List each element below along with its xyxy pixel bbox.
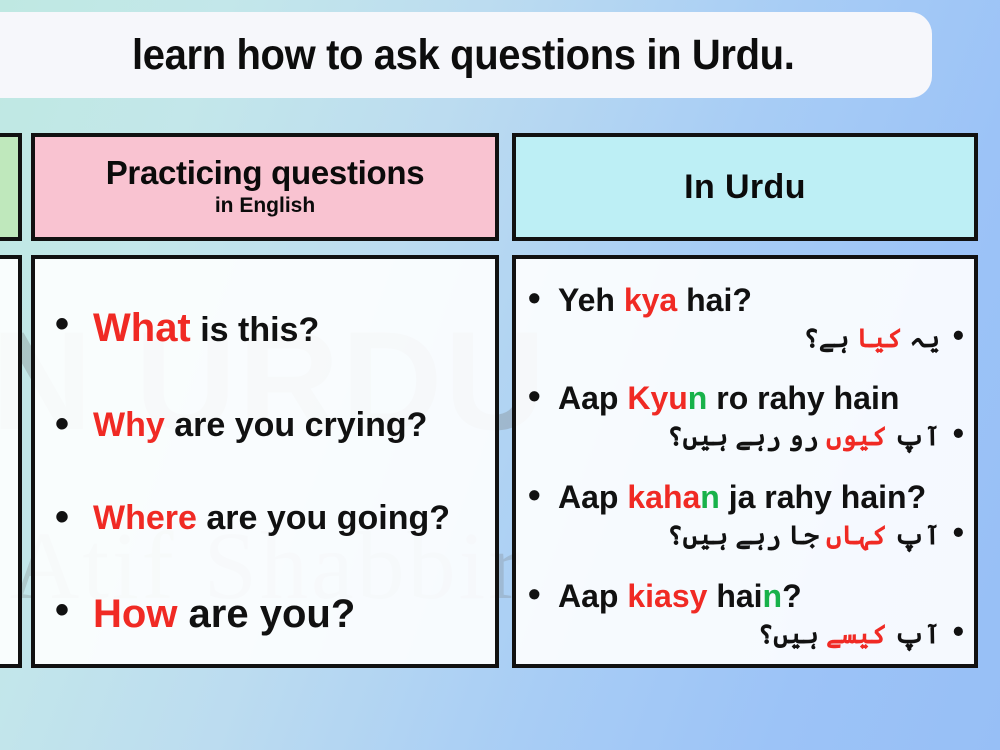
column-english: Practicing questions in English What is … xyxy=(31,133,499,678)
urdu-roman-line: Yeh kya hai? xyxy=(516,283,974,318)
script-keyword: کیسے xyxy=(826,619,887,649)
title-banner: learn how to ask questions in Urdu. xyxy=(0,12,932,98)
urdu-question-list: Yeh kya hai? یہ کیا ہے؟ Aap Kyun ro rahy… xyxy=(516,259,974,664)
script-pre: آپ xyxy=(887,619,940,649)
english-rest: are you? xyxy=(177,592,355,636)
header-green xyxy=(0,133,22,241)
roman-keyword-green: n xyxy=(763,578,783,614)
english-keyword: How xyxy=(93,592,177,636)
list-item: Where are you going? xyxy=(35,499,495,537)
script-post: ہے؟ xyxy=(804,323,857,353)
script-keyword: کہاں xyxy=(826,520,887,550)
script-pre: آپ xyxy=(887,520,940,550)
header-urdu: In Urdu xyxy=(512,133,978,241)
roman-mid: hai xyxy=(707,578,762,614)
roman-pre: Yeh xyxy=(558,282,624,318)
urdu-script-line: یہ کیا ہے؟ xyxy=(516,322,974,355)
script-keyword: کیوں xyxy=(826,421,887,451)
header-urdu-title: In Urdu xyxy=(684,168,806,207)
comparison-table: Practicing questions in English What is … xyxy=(0,133,1000,678)
roman-keyword-red: kiasy xyxy=(627,578,707,614)
list-item: Aap kahan ja rahy hain? آپ کہاں جا رہے ہ… xyxy=(516,480,974,552)
list-item: How are you? xyxy=(35,592,495,637)
urdu-roman-line: Aap Kyun ro rahy hain xyxy=(516,381,974,416)
roman-pre: Aap xyxy=(558,380,627,416)
roman-pre: Aap xyxy=(558,479,627,515)
roman-post: hai? xyxy=(677,282,752,318)
list-item: Aap kiasy hain? آپ کیسے ہیں؟ xyxy=(516,579,974,651)
urdu-roman-line: Aap kiasy hain? xyxy=(516,579,974,614)
roman-keyword-red: Kyu xyxy=(627,380,687,416)
script-post: جا رہے ہیں؟ xyxy=(667,520,826,550)
roman-keyword-red: kaha xyxy=(627,479,700,515)
urdu-script-line: آپ کیوں رو رہے ہیں؟ xyxy=(516,420,974,453)
script-post: ہیں؟ xyxy=(758,619,826,649)
script-pre: یہ xyxy=(902,323,940,353)
column-left-clipped xyxy=(0,133,22,678)
list-item: Yeh kya hai? یہ کیا ہے؟ xyxy=(516,283,974,355)
list-item: Why are you crying? xyxy=(35,406,495,444)
urdu-script-line: آپ کیسے ہیں؟ xyxy=(516,618,974,651)
urdu-script-line: آپ کہاں جا رہے ہیں؟ xyxy=(516,519,974,552)
body-urdu: Yeh kya hai? یہ کیا ہے؟ Aap Kyun ro rahy… xyxy=(512,255,978,668)
english-rest: is this? xyxy=(191,311,319,349)
roman-post: ? xyxy=(782,578,802,614)
script-keyword: کیا xyxy=(857,323,903,353)
column-urdu: In Urdu Yeh kya hai? یہ کیا ہے؟ Aap Kyun… xyxy=(512,133,978,678)
body-english: What is this? Why are you crying? Where … xyxy=(31,255,499,668)
list-item: Aap Kyun ro rahy hain آپ کیوں رو رہے ہیں… xyxy=(516,381,974,453)
script-pre: آپ xyxy=(887,421,940,451)
header-english-title: Practicing questions xyxy=(106,156,425,191)
english-keyword: Why xyxy=(93,406,165,444)
english-rest: are you going? xyxy=(197,499,450,537)
english-keyword: What xyxy=(93,306,191,350)
roman-pre: Aap xyxy=(558,578,627,614)
roman-keyword-red: kya xyxy=(624,282,677,318)
roman-keyword-green: n xyxy=(688,380,708,416)
roman-post: ro rahy hain xyxy=(707,380,899,416)
header-english-subtitle: in English xyxy=(215,194,315,218)
body-green xyxy=(0,255,22,668)
english-keyword: Where xyxy=(93,499,197,537)
script-post: رو رہے ہیں؟ xyxy=(667,421,826,451)
english-question-list: What is this? Why are you crying? Where … xyxy=(35,259,495,664)
list-item: What is this? xyxy=(35,306,495,351)
roman-post: ja rahy hain? xyxy=(720,479,926,515)
roman-keyword-green: n xyxy=(700,479,720,515)
urdu-roman-line: Aap kahan ja rahy hain? xyxy=(516,480,974,515)
header-english: Practicing questions in English xyxy=(31,133,499,241)
page-title: learn how to ask questions in Urdu. xyxy=(108,31,795,80)
english-rest: are you crying? xyxy=(165,406,428,444)
